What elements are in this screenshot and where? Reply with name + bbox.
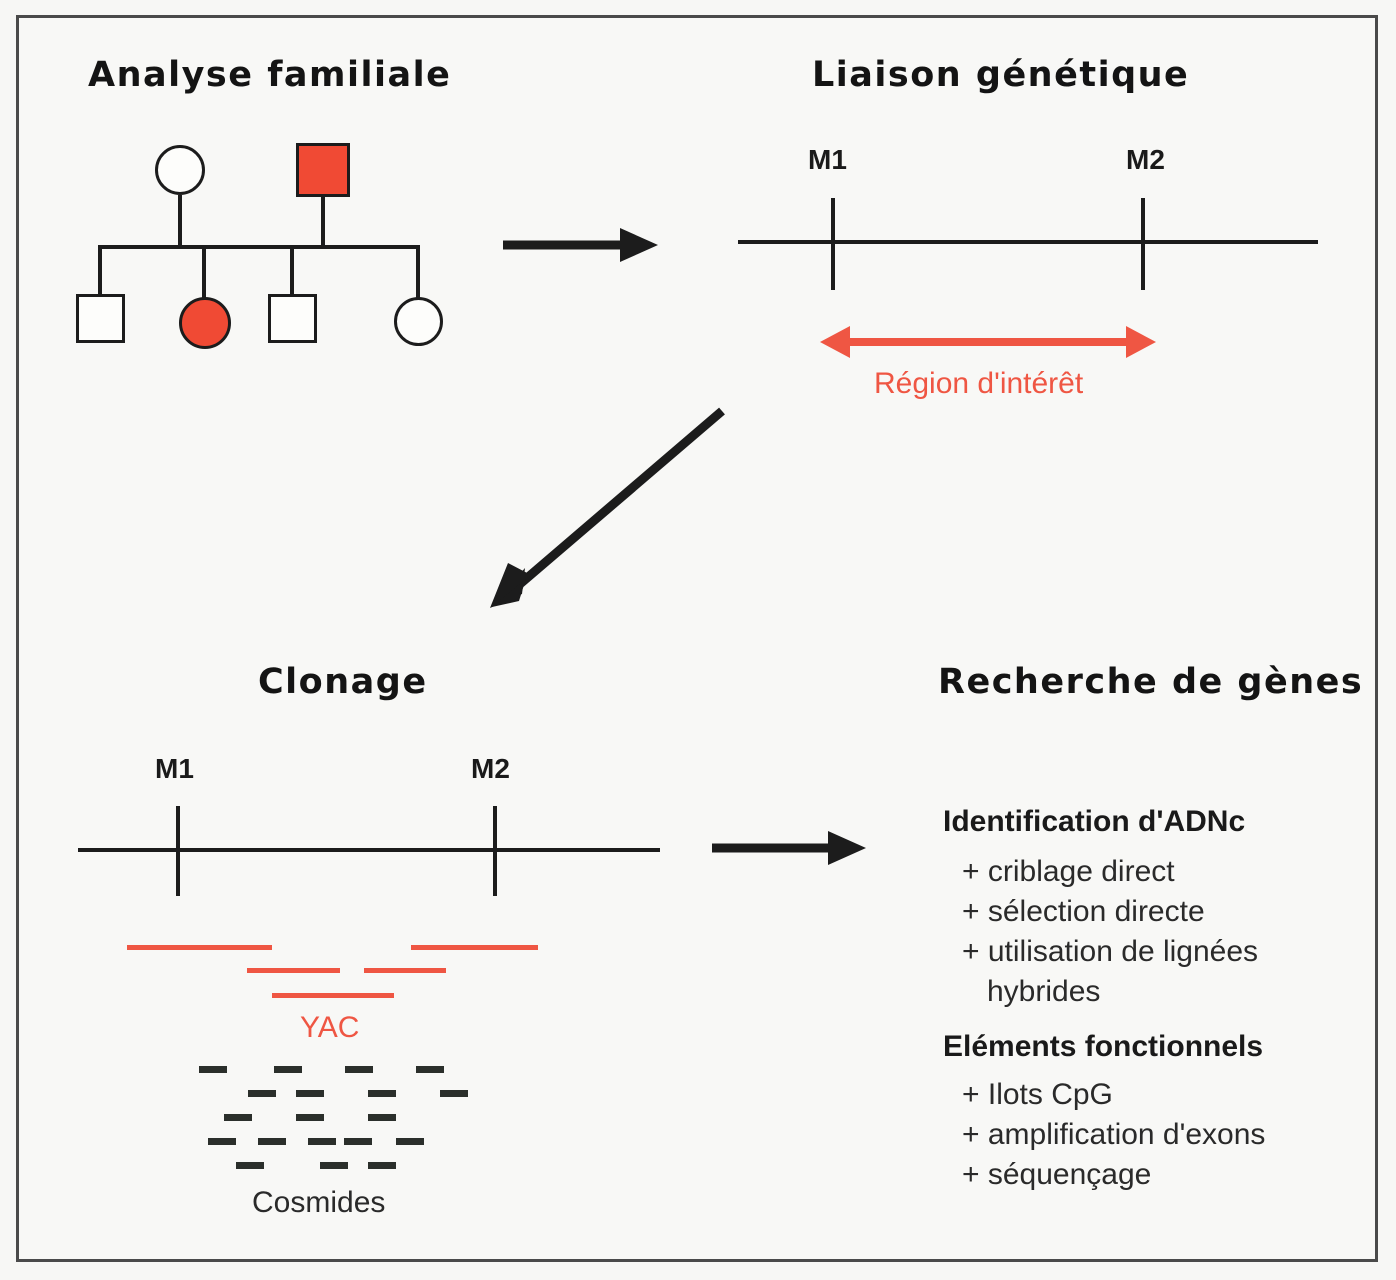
cosmid-dash [308,1138,336,1145]
yac-clone-bar [411,945,538,950]
gene-search-item: + séquençage [962,1158,1151,1192]
cosmid-dash [296,1114,324,1121]
pedigree-line-child-1-drop [98,245,102,295]
panel-title-cloning: Clonage [258,662,428,702]
cosmid-dash [236,1162,264,1169]
cosmid-dash [396,1138,424,1145]
pedigree-line-child-2-drop [202,245,206,299]
gene-search-item: + Ilots CpG [962,1078,1113,1112]
cosmid-dash [199,1066,227,1073]
pedigree-line-child-3-drop [290,245,294,295]
cloning-marker-label-m2: M2 [471,753,510,785]
gene-search-item: + sélection directe [962,895,1205,929]
pedigree-child-4 [394,297,443,346]
pedigree-line-child-4-drop [416,245,420,299]
cosmid-dash [208,1138,236,1145]
cosmid-dash [258,1138,286,1145]
figure-frame [16,15,1378,1262]
cosmid-dash [368,1162,396,1169]
cloning-chromosome-axis [78,848,660,852]
panel-title-family-analysis: Analyse familiale [88,55,451,95]
pedigree-parent-mother [155,145,205,195]
yac-label: YAC [300,1011,359,1045]
region-of-interest-label: Région d'intérêt [874,367,1083,401]
cosmid-dash [416,1066,444,1073]
yac-clone-bar [247,968,340,973]
cosmid-dash [440,1090,468,1097]
cosmid-dash [296,1090,324,1097]
pedigree-line-sibship [98,245,420,249]
cloning-tick-m1 [176,806,180,896]
cosmides-label: Cosmides [252,1186,385,1220]
pedigree-child-1 [76,294,125,343]
cosmid-dash [344,1138,372,1145]
cloning-tick-m2 [493,806,497,896]
linkage-tick-m1 [831,198,835,290]
gene-search-item-continuation: hybrides [987,975,1100,1009]
cosmid-dash [345,1066,373,1073]
panel-title-gene-search: Recherche de gènes [938,662,1363,702]
cosmid-dash [248,1090,276,1097]
pedigree-line-mother-drop [178,195,182,247]
yac-clone-bar [127,945,272,950]
yac-clone-bar [272,993,394,998]
panel-title-genetic-linkage: Liaison génétique [812,55,1189,95]
pedigree-parent-father [296,143,350,197]
gene-search-item: + criblage direct [962,855,1175,889]
linkage-marker-label-m1: M1 [808,144,847,176]
linkage-marker-label-m2: M2 [1126,144,1165,176]
yac-clone-bar [364,968,446,973]
cloning-marker-label-m1: M1 [155,753,194,785]
figure-canvas: Analyse familiale Liaison génétique M1 M… [0,0,1396,1280]
linkage-tick-m2 [1141,198,1145,290]
gene-search-item: + utilisation de lignées [962,935,1258,969]
pedigree-line-father-drop [321,197,325,247]
cosmid-dash [368,1114,396,1121]
gene-search-group-heading-cdna: Identification d'ADNc [943,805,1245,839]
pedigree-child-2 [179,297,231,349]
linkage-chromosome-axis [738,240,1318,244]
cosmid-dash [224,1114,252,1121]
cosmid-dash [274,1066,302,1073]
pedigree-child-3 [268,294,317,343]
gene-search-group-heading-functional: Eléments fonctionnels [943,1030,1263,1064]
gene-search-item: + amplification d'exons [962,1118,1265,1152]
cosmid-dash [320,1162,348,1169]
cosmid-dash [368,1090,396,1097]
